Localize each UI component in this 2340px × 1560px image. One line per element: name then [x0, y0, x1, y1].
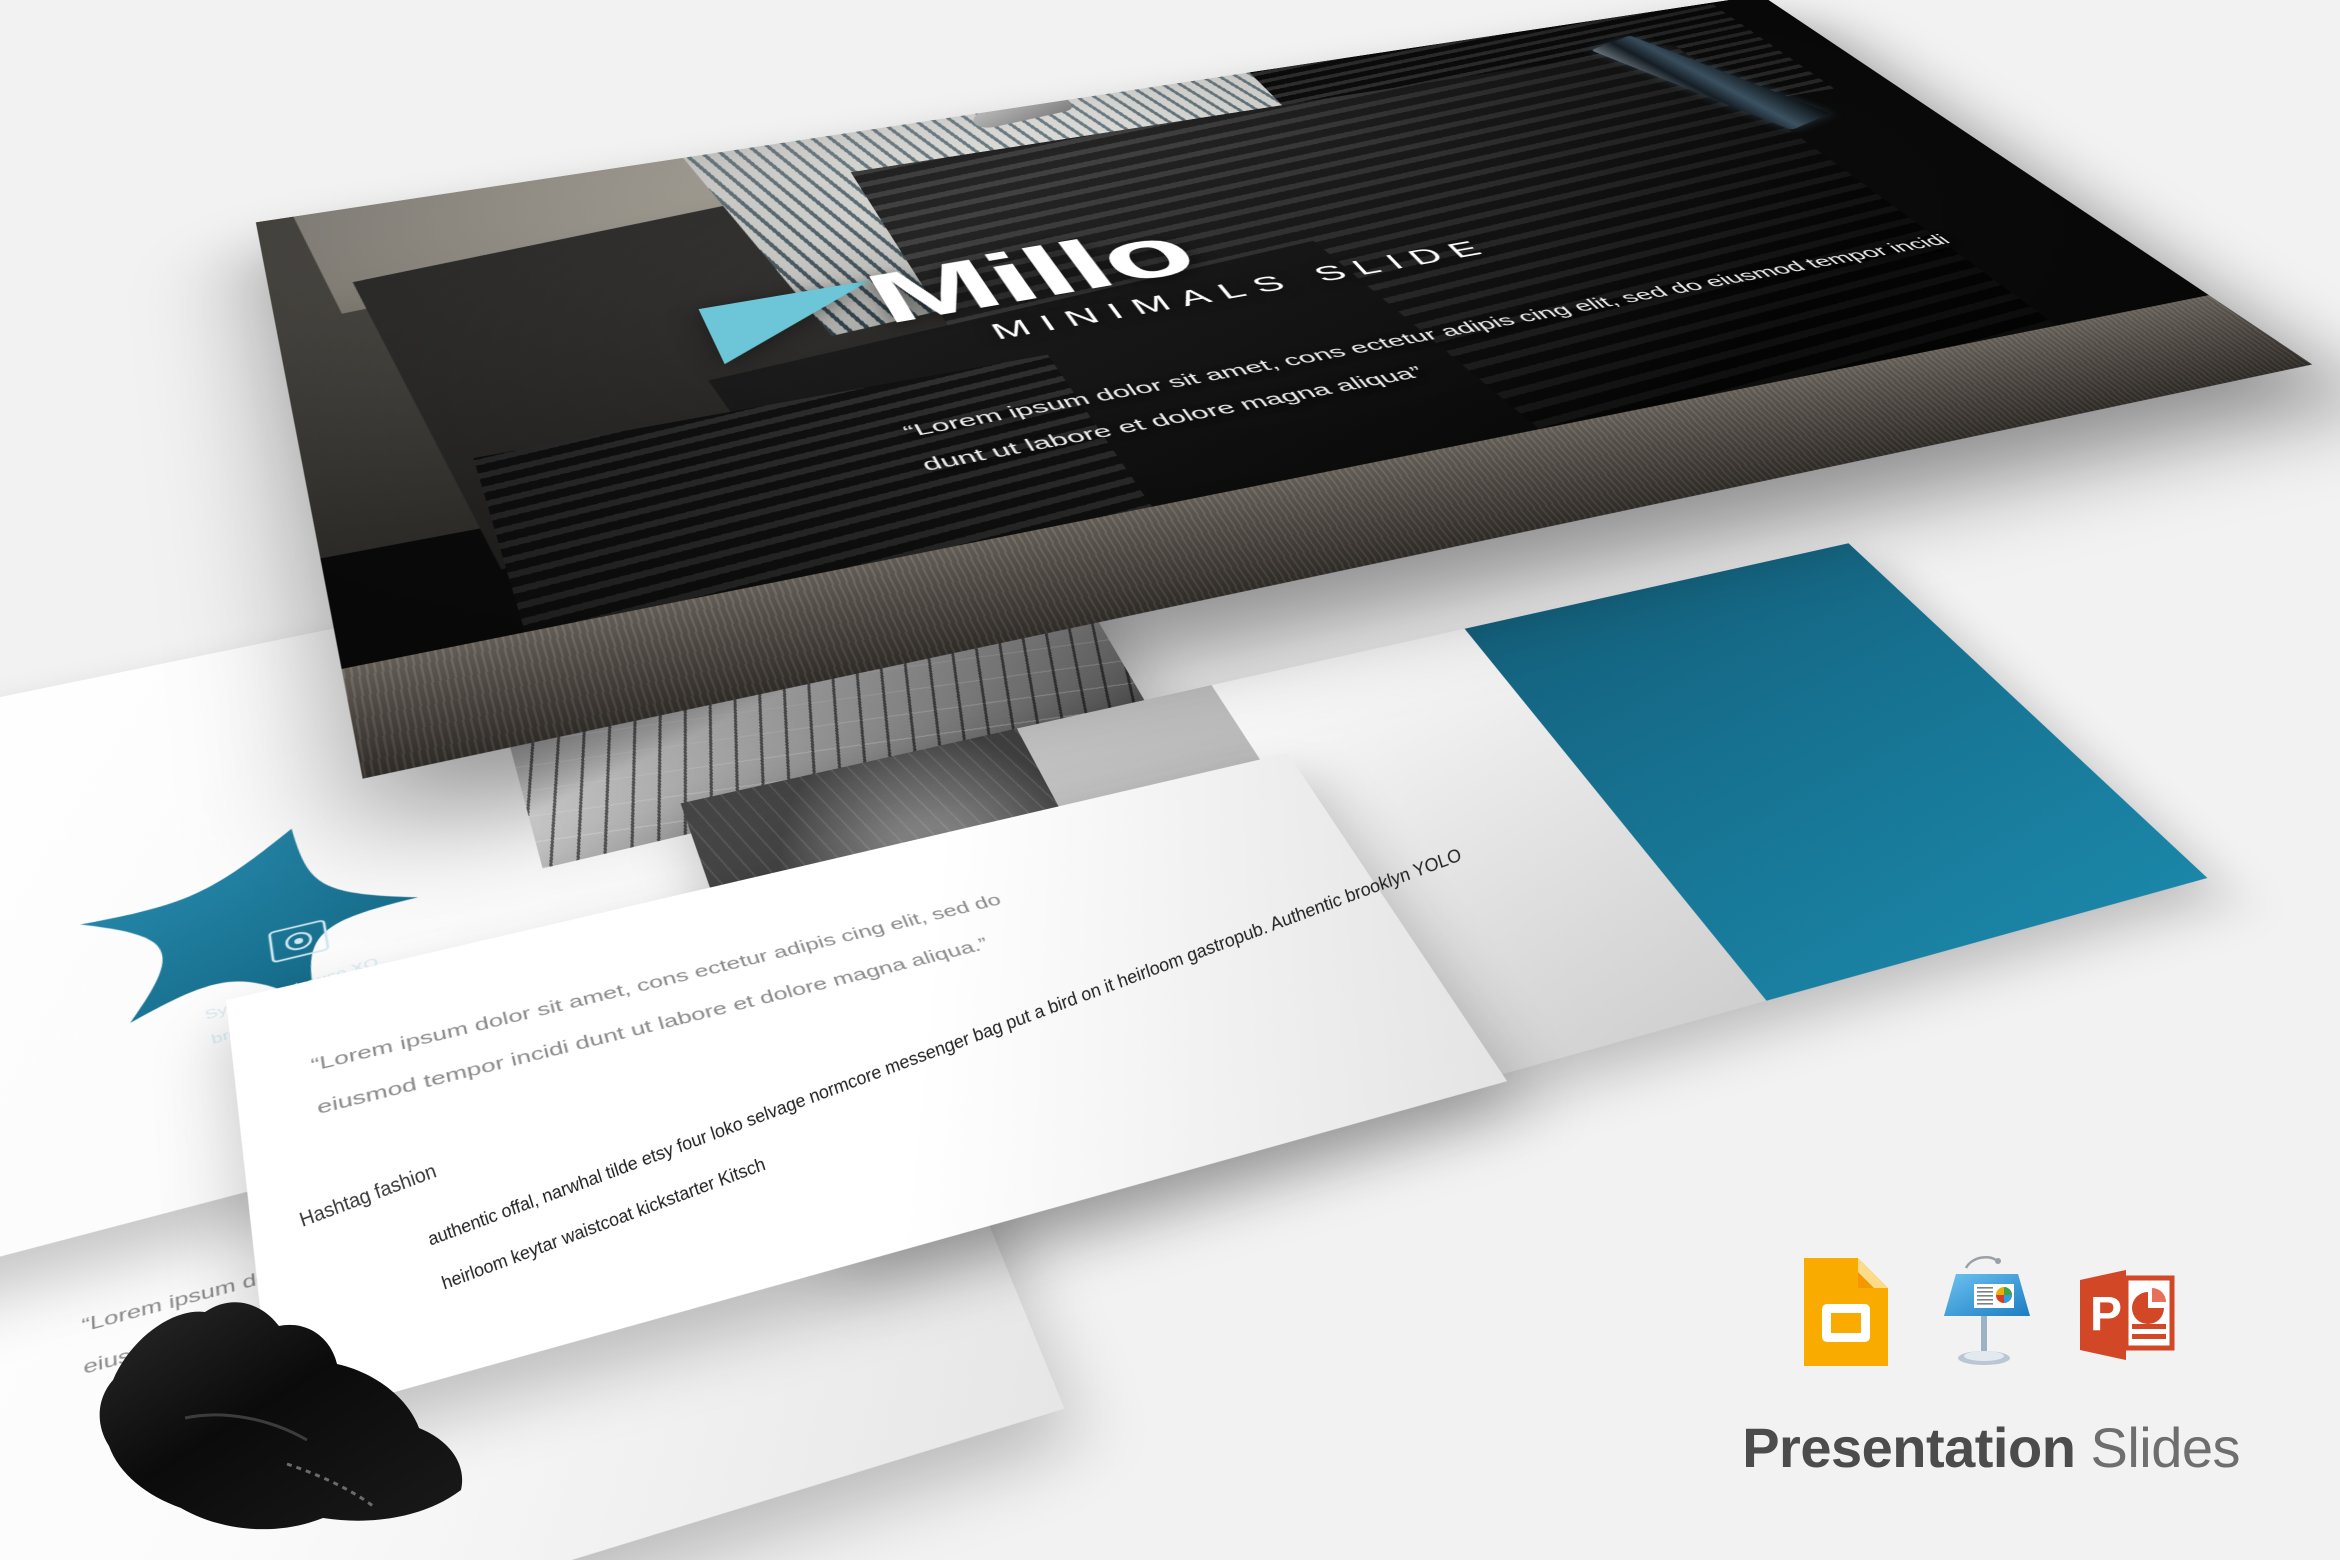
branding-block: P Presentation Slides — [1742, 1252, 2240, 1480]
slide-card-hero-title[interactable]: Millo MINIMALS SLIDE “Lorem ipsum dolor … — [256, 0, 2312, 779]
google-slides-icon — [1798, 1252, 1894, 1377]
powerpoint-icon: P — [2074, 1262, 2178, 1377]
svg-text:P: P — [2090, 1288, 2122, 1341]
branding-title-bold: Presentation — [1742, 1416, 2075, 1479]
branding-title: Presentation Slides — [1742, 1415, 2240, 1480]
branding-title-light: Slides — [2090, 1416, 2240, 1479]
app-icon-row: P — [1742, 1252, 2240, 1377]
keynote-icon — [1928, 1252, 2040, 1377]
